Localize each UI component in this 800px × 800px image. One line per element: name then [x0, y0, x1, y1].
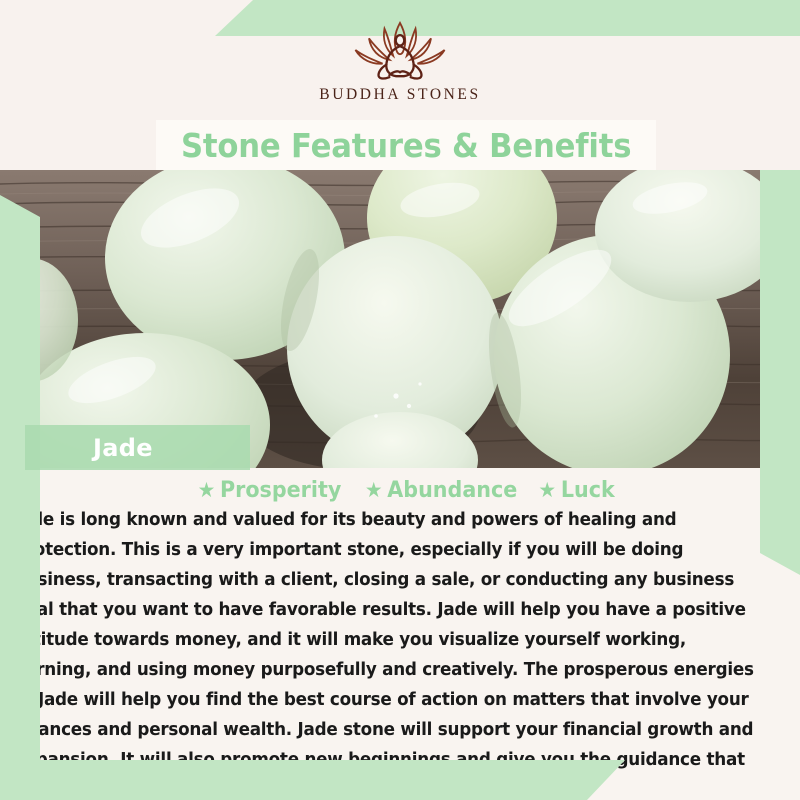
- benefit-label: Prosperity: [220, 478, 341, 503]
- decoration-left-stripe: [0, 195, 40, 770]
- decoration-bottom-band: [0, 760, 625, 800]
- lotus-meditation-icon: [344, 20, 456, 82]
- page-title: Stone Features & Benefits: [181, 126, 631, 165]
- brand-header: BUDDHA STONES: [0, 0, 800, 118]
- poster-root: BUDDHA STONES Stone Features & Benefits: [0, 0, 800, 800]
- star-icon: ★: [365, 480, 383, 501]
- benefit-label: Luck: [561, 478, 615, 503]
- benefit-label: Abundance: [387, 478, 517, 503]
- hero-photo: [0, 170, 800, 468]
- description-paragraph: Jade is long known and valued for its be…: [14, 505, 761, 800]
- benefit-item: ★ Luck: [538, 478, 614, 503]
- benefits-row: ★ Prosperity ★ Abundance ★ Luck: [0, 468, 800, 503]
- stone-name-band: Jade: [25, 425, 250, 470]
- benefit-item: ★ Prosperity: [197, 478, 341, 503]
- section-title-bar: Stone Features & Benefits: [156, 120, 656, 170]
- brand-name: BUDDHA STONES: [319, 86, 480, 104]
- stone-name-label: Jade: [25, 434, 153, 462]
- star-icon: ★: [538, 480, 556, 501]
- benefit-item: ★ Abundance: [365, 478, 517, 503]
- content-panel: ★ Prosperity ★ Abundance ★ Luck Jade is …: [0, 468, 800, 800]
- decoration-right-stripe: [760, 170, 800, 575]
- star-icon: ★: [197, 480, 215, 501]
